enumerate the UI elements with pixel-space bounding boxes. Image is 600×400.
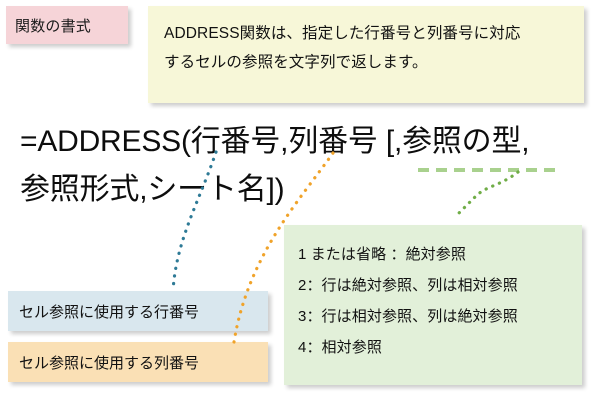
reference-type-item-1: 1 または省略 ：絶対参照 [298,239,582,270]
row-number-label-text: セル参照に使用する行番号 [19,301,199,322]
formula-line-1: =ADDRESS(行番号,列番号 [,参照の型, [20,118,600,166]
column-number-label: セル参照に使用する列番号 [8,342,268,382]
row-number-label: セル参照に使用する行番号 [8,291,268,331]
formula-line-2: 参照形式,シート名]) [20,166,600,214]
heading-tag: 関数の書式 [6,6,128,44]
column-number-label-text: セル参照に使用する列番号 [19,352,199,373]
heading-tag-label: 関数の書式 [15,15,91,36]
reference-type-panel: 1 または省略 ：絶対参照 2：行は絶対参照、列は相対参照 3：行は相対参照、列… [284,225,582,385]
description-note-line-2: するセルの参照を文字列で返します。 [164,48,568,77]
slide-canvas: 関数の書式 ADDRESS関数は、指定した行番号と列番号に対応 するセルの参照を… [0,0,600,400]
reference-type-item-4: 4：相対参照 [298,332,582,363]
reference-type-item-2: 2：行は絶対参照、列は相対参照 [298,270,582,301]
reference-type-item-3: 3：行は相対参照、列は絶対参照 [298,301,582,332]
formula-syntax: =ADDRESS(行番号,列番号 [,参照の型, 参照形式,シート名]) [20,118,600,214]
description-note-line-1: ADDRESS関数は、指定した行番号と列番号に対応 [164,19,568,48]
description-note: ADDRESS関数は、指定した行番号と列番号に対応 するセルの参照を文字列で返し… [148,6,584,103]
